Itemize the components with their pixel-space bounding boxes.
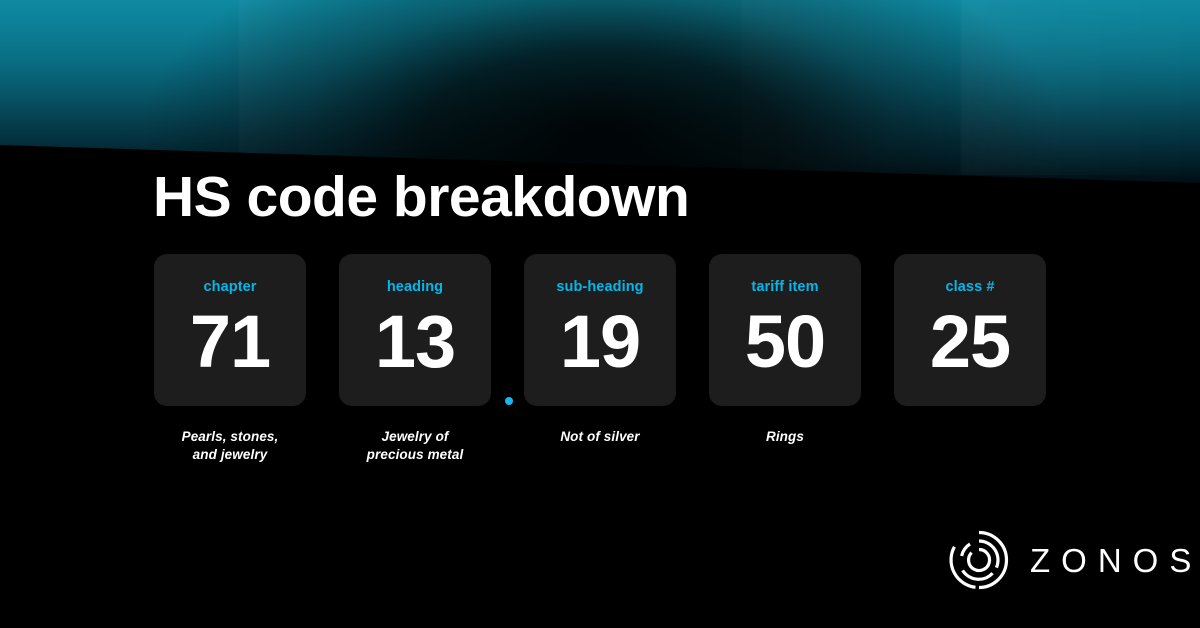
caption-line-1: Pearls, stones, <box>154 428 306 446</box>
hs-code-card-sub-heading[interactable]: sub-heading 19 <box>524 254 676 406</box>
caption-line-1: Not of silver <box>524 428 676 446</box>
caption-line-1: Jewelry of <box>339 428 491 446</box>
hs-code-breakdown-graphic: HS code breakdown chapter 71 heading 13 … <box>0 0 1200 628</box>
card-value: 25 <box>894 299 1046 385</box>
accent-dot-icon <box>505 397 513 405</box>
hs-code-card-chapter[interactable]: chapter 71 <box>154 254 306 406</box>
card-label: class # <box>894 279 1046 295</box>
card-caption-chapter: Pearls, stones, and jewelry <box>154 428 306 464</box>
caption-line-2: and jewelry <box>154 446 306 464</box>
hs-code-card-row: chapter 71 heading 13 sub-heading 19 tar… <box>154 254 1054 406</box>
card-value: 19 <box>524 299 676 385</box>
caption-line-1: Rings <box>709 428 861 446</box>
card-value: 50 <box>709 299 861 385</box>
hs-code-card-tariff-item[interactable]: tariff item 50 <box>709 254 861 406</box>
caption-line-2: precious metal <box>339 446 491 464</box>
card-caption-sub-heading: Not of silver <box>524 428 676 446</box>
card-label: tariff item <box>709 279 861 295</box>
hs-code-caption-row: Pearls, stones, and jewelry Jewelry of p… <box>154 428 1054 478</box>
zonos-wordmark: ZONOS <box>1030 544 1200 577</box>
card-caption-heading: Jewelry of precious metal <box>339 428 491 464</box>
hs-code-card-class-number[interactable]: class # 25 <box>894 254 1046 406</box>
zonos-logo: ZONOS <box>948 528 1200 592</box>
card-label: sub-heading <box>524 279 676 295</box>
card-value: 13 <box>339 299 491 385</box>
card-label: chapter <box>154 279 306 295</box>
page-title: HS code breakdown <box>153 166 689 228</box>
hs-code-card-heading[interactable]: heading 13 <box>339 254 491 406</box>
zonos-concentric-rings-icon <box>948 529 1010 591</box>
card-value: 71 <box>154 299 306 385</box>
card-caption-tariff-item: Rings <box>709 428 861 446</box>
card-label: heading <box>339 279 491 295</box>
